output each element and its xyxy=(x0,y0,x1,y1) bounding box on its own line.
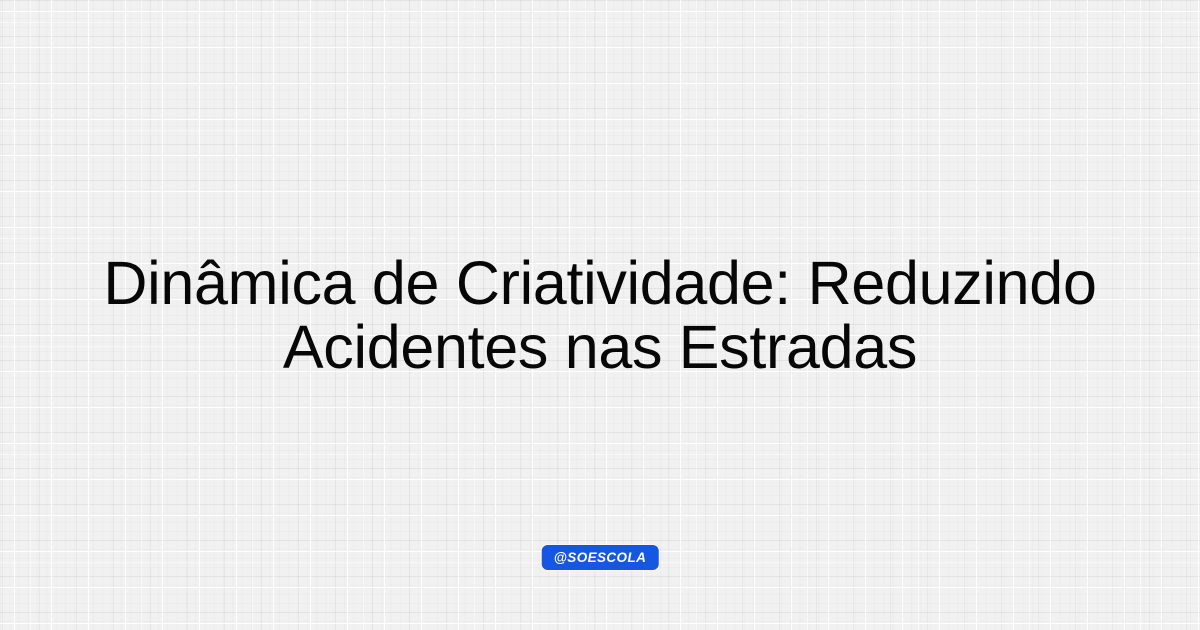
poster-canvas: Dinâmica de Criatividade: Reduzindo Acid… xyxy=(0,0,1200,630)
page-title: Dinâmica de Criatividade: Reduzindo Acid… xyxy=(40,251,1160,379)
brand-handle-badge: @SOESCOLA xyxy=(542,545,659,570)
headline-container: Dinâmica de Criatividade: Reduzindo Acid… xyxy=(0,0,1200,630)
